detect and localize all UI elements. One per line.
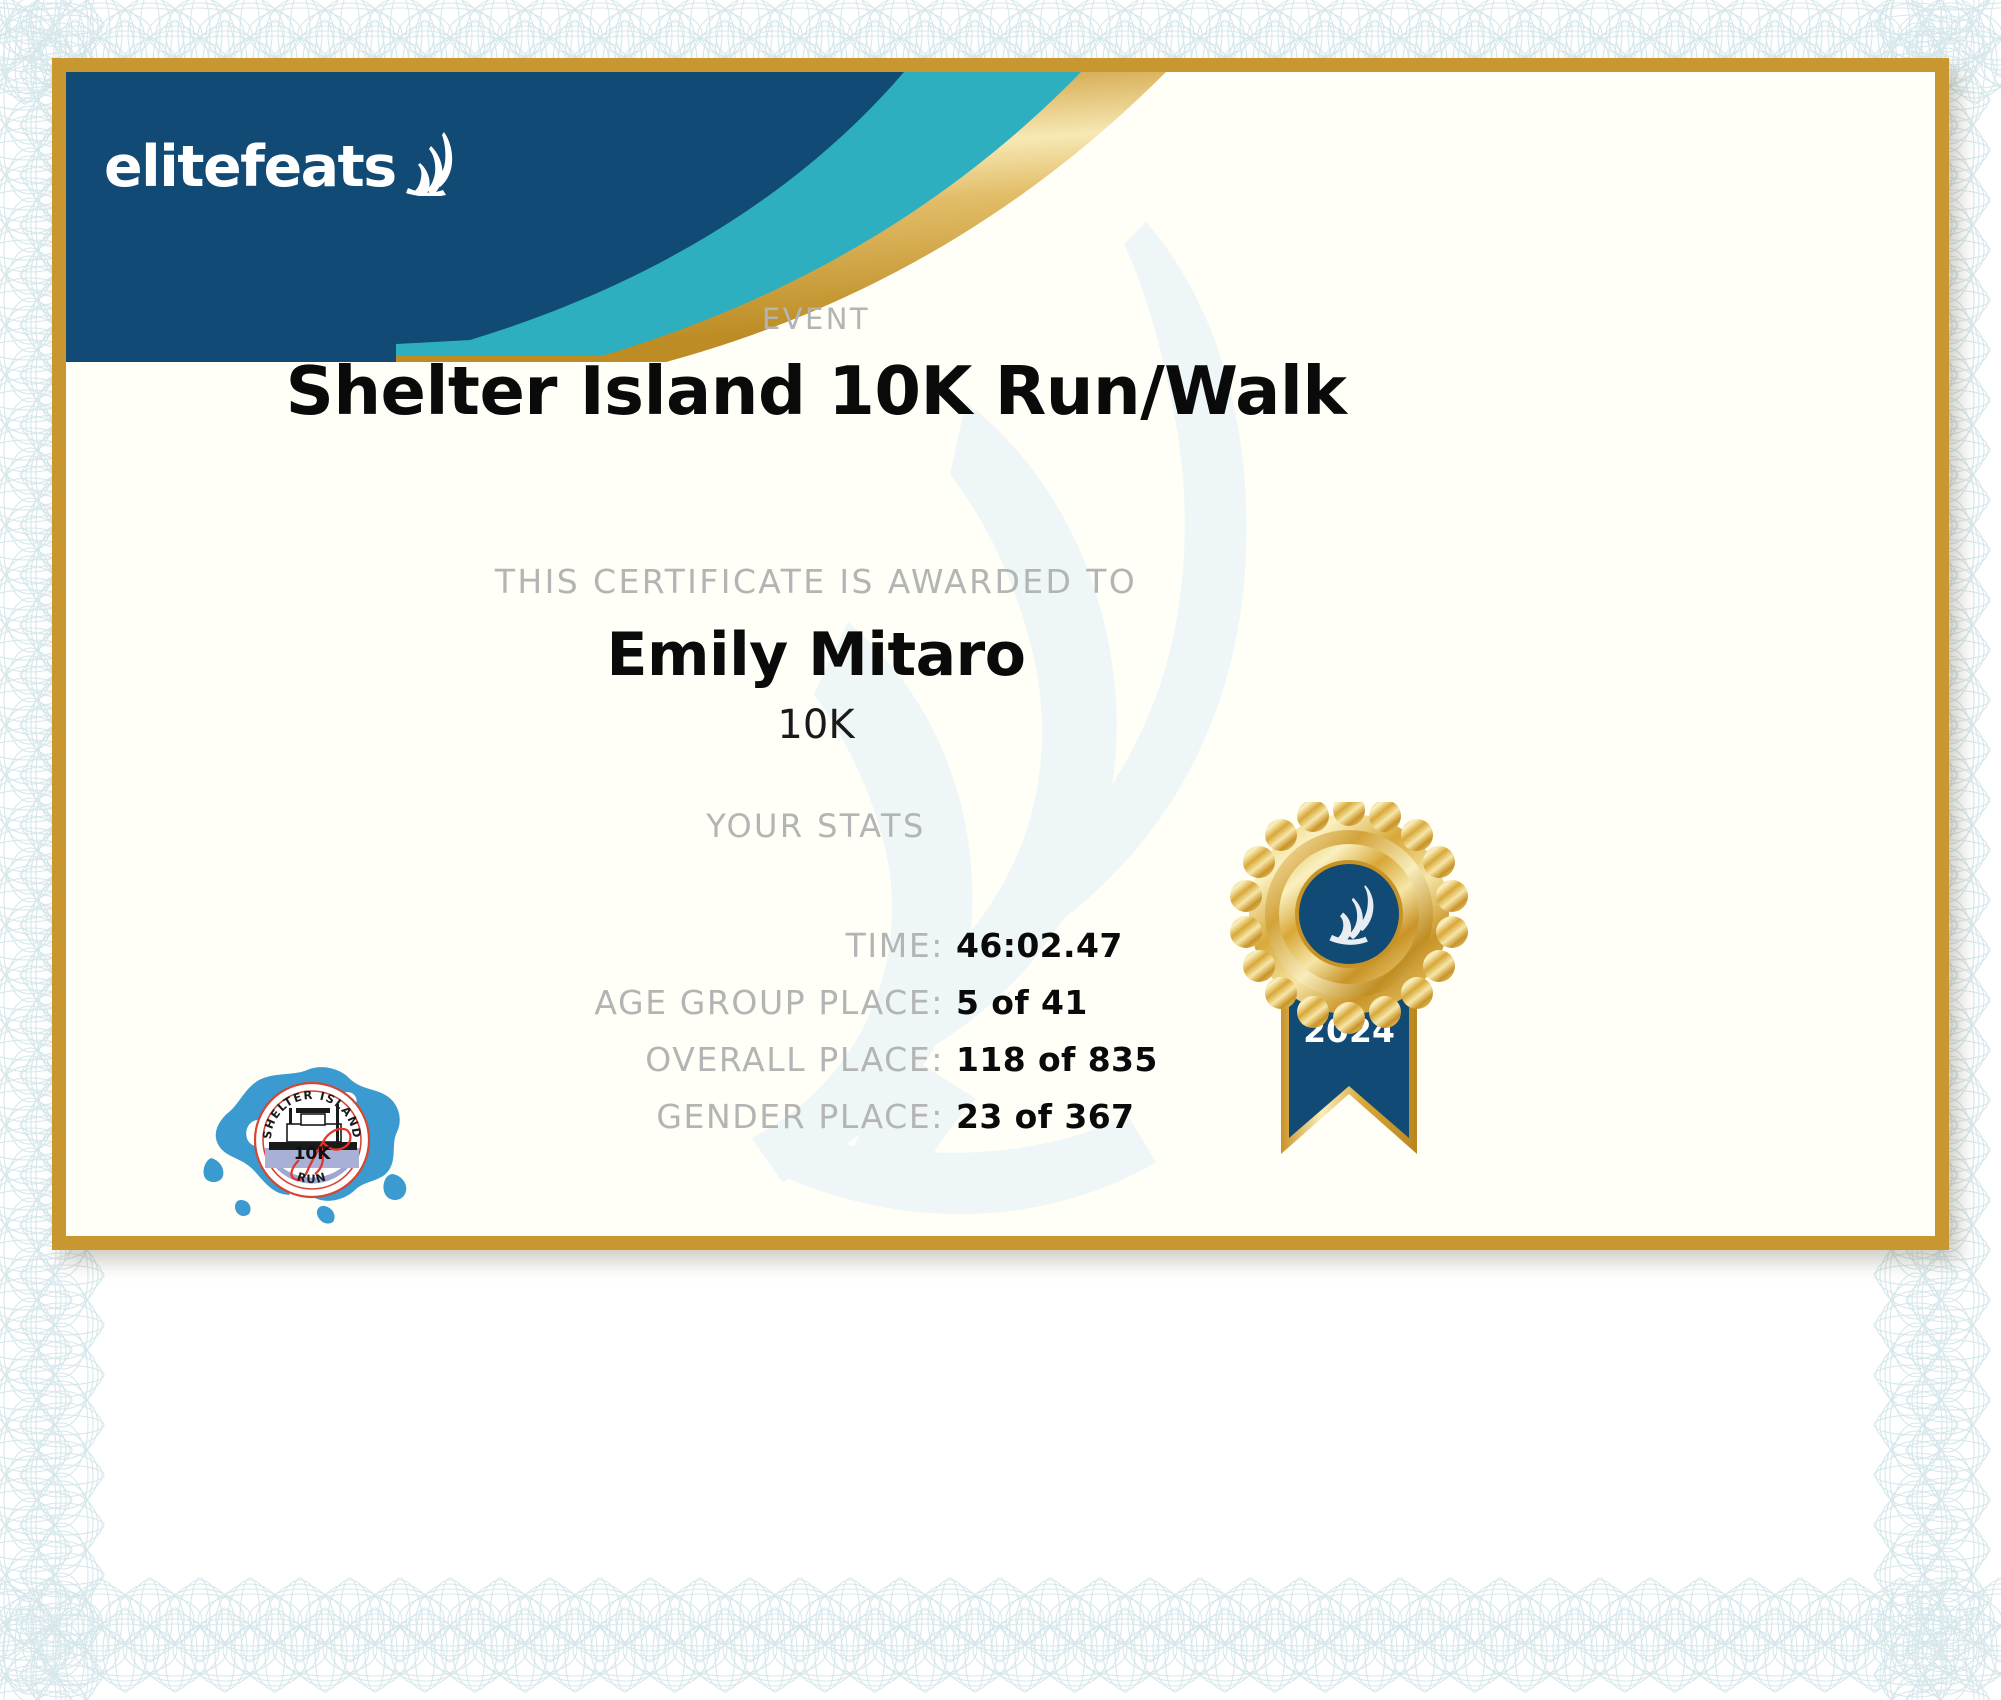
event-label: EVENT [66,302,1566,336]
awarded-to-label: THIS CERTIFICATE IS AWARDED TO [66,562,1566,601]
winged-foot-icon [400,130,460,196]
stat-key-time: TIME: [66,917,956,974]
shelter-island-race-logo-icon: SHELTER ISLAND RUN 10K [197,1062,427,1227]
presented-by-label: PRESENTED BY [162,1234,462,1236]
recipient-division: 10K [66,702,1566,748]
recipient-name: Emily Mitaro [66,620,1566,690]
stat-key-age-group-place: AGE GROUP PLACE: [66,974,956,1031]
brand-wordmark: elitefeats [104,139,396,196]
certificate-frame: elitefeats EVENT Shelter Island 10K Run/… [52,58,1949,1250]
finisher-medal-block: 2024 [1214,802,1484,1236]
event-title: Shelter Island 10K Run/Walk [66,352,1566,430]
elitefeats-logo: elitefeats [104,130,460,196]
certificate-body: elitefeats EVENT Shelter Island 10K Run/… [66,72,1935,1236]
finisher-medal-icon: 2024 [1219,802,1479,1232]
badge-center-text: 10K [294,1144,332,1164]
race-logo-block: SHELTER ISLAND RUN 10K PRESENTED BY [162,1062,462,1236]
certificate-content: EVENT Shelter Island 10K Run/Walk THIS C… [66,72,1935,1236]
